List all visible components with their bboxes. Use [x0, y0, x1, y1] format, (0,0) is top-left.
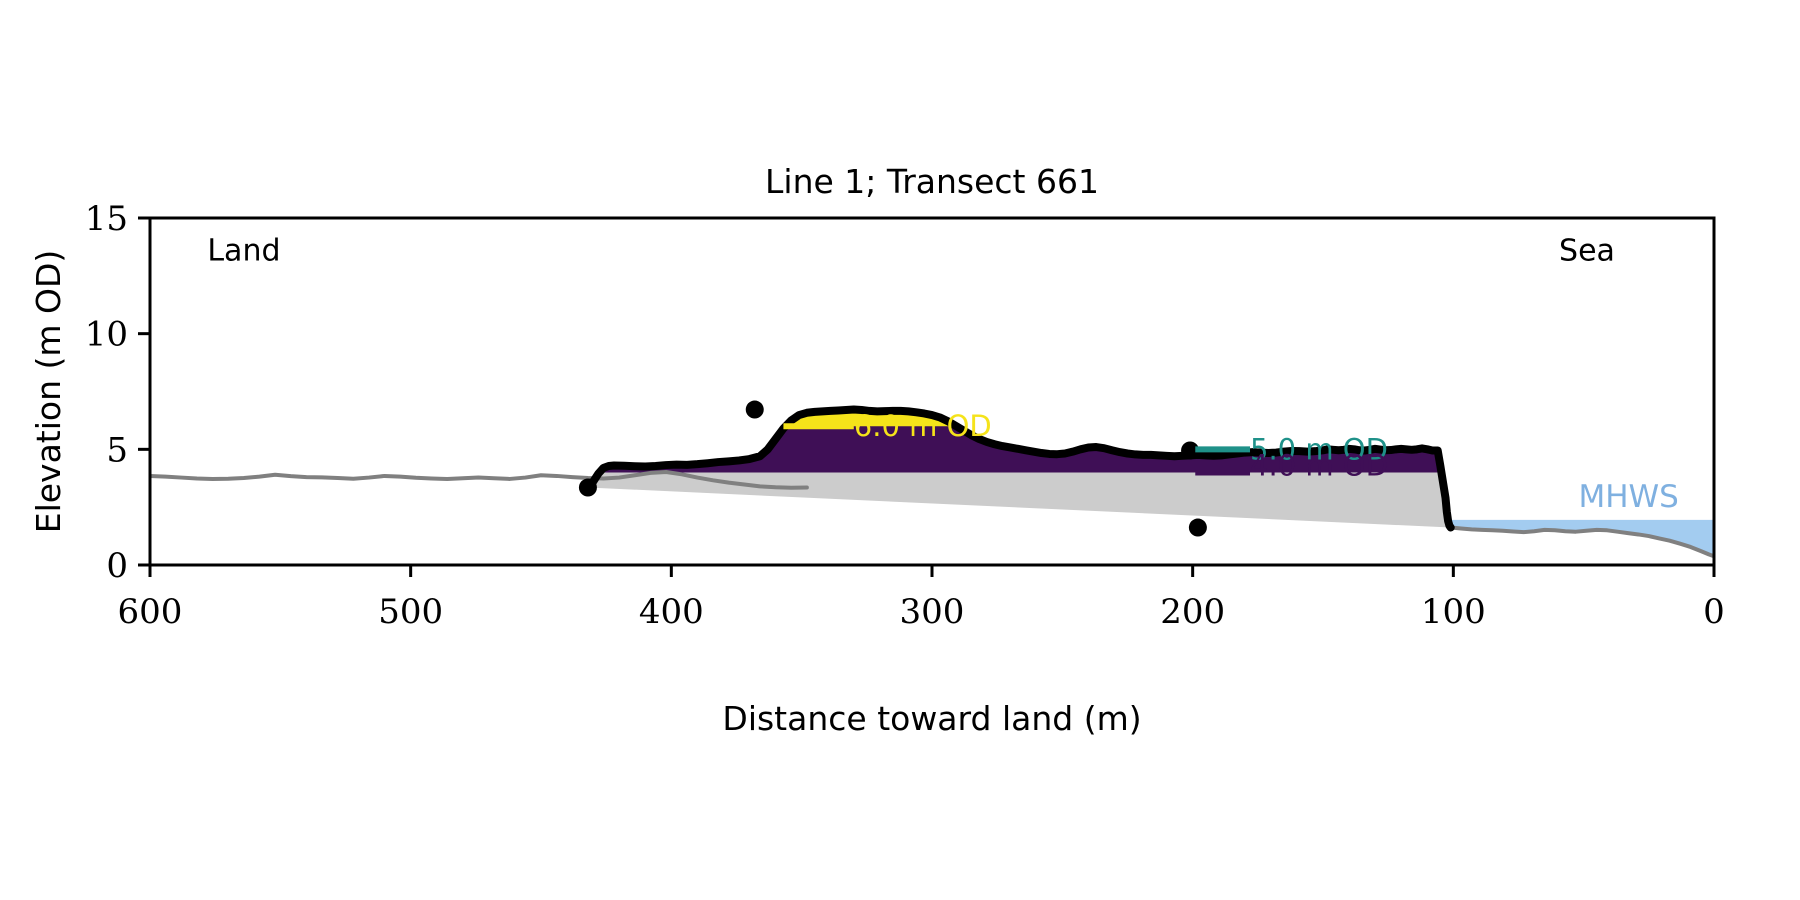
y-tick-label-0: 0	[106, 546, 128, 586]
marker-dune-crest	[746, 401, 764, 419]
y-tick-label-10: 10	[85, 315, 128, 355]
y-tick-label-15: 15	[85, 199, 128, 239]
coastal-profile-figure: Line 1; Transect 661 Elevation (m OD) Di…	[0, 0, 1800, 900]
level-6-label: 6.0 m OD	[854, 409, 992, 443]
level-4-label: 4.0 m OD	[1250, 449, 1388, 483]
x-tick-label-300: 300	[900, 592, 965, 632]
y-axis-title: Elevation (m OD)	[29, 250, 68, 534]
sea-label: Sea	[1559, 233, 1615, 268]
marker-dune-toe-seaward	[1189, 519, 1207, 537]
x-tick-label-500: 500	[378, 592, 443, 632]
land-label: Land	[207, 233, 280, 268]
x-tick-label-200: 200	[1160, 592, 1225, 632]
x-tick-label-400: 400	[639, 592, 704, 632]
marker-dune-toe-landward	[579, 479, 597, 497]
y-tick-label-5: 5	[106, 430, 128, 470]
x-axis-title: Distance toward land (m)	[722, 699, 1141, 738]
mhws-label: MHWS	[1578, 479, 1678, 515]
x-tick-label-0: 0	[1703, 592, 1725, 632]
transect-profile-chart: Line 1; Transect 661 Elevation (m OD) Di…	[0, 0, 1800, 900]
x-tick-label-600: 600	[118, 592, 183, 632]
page-title: Line 1; Transect 661	[765, 162, 1099, 201]
x-tick-label-100: 100	[1421, 592, 1486, 632]
